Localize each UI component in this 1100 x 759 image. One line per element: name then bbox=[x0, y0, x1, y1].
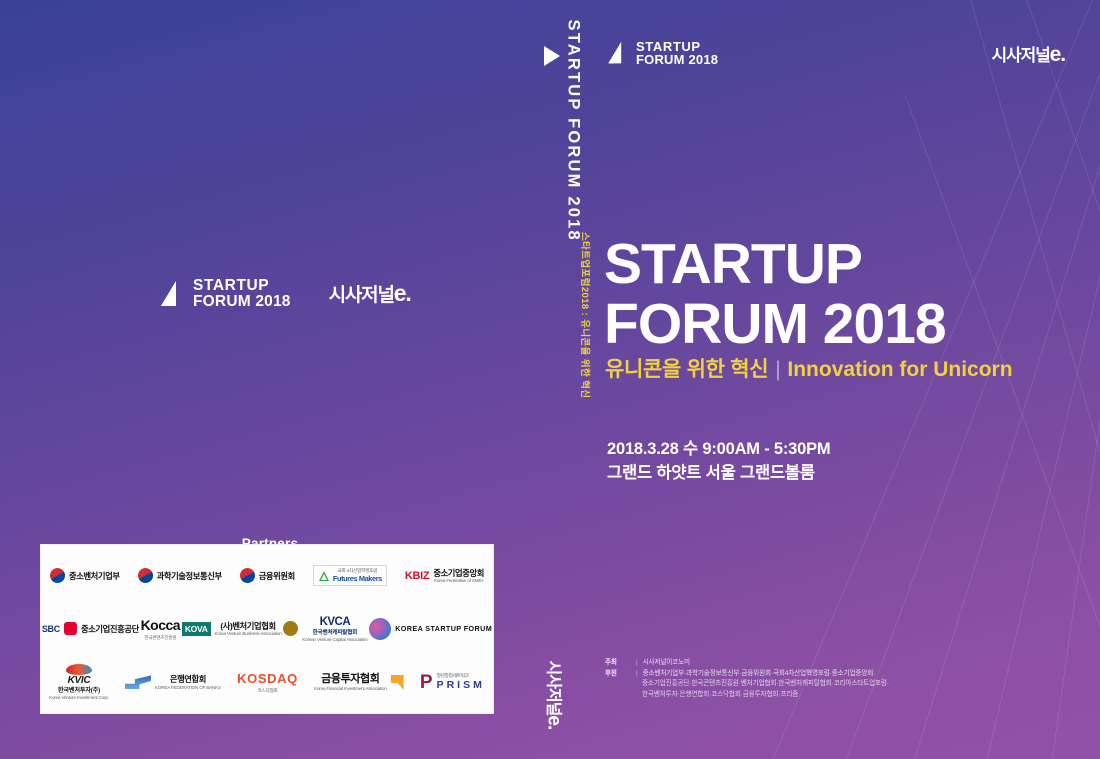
front-publisher-suffix: e. bbox=[1050, 43, 1065, 66]
partner-label: KOREA STARTUP FORUM bbox=[395, 624, 492, 633]
credits-host-label: 주최 bbox=[605, 658, 631, 669]
triangle-sail-icon bbox=[540, 44, 564, 68]
partner-item: 과학기술정보통신부 bbox=[138, 549, 222, 602]
taeguk-icon bbox=[47, 566, 67, 586]
korea-startup-forum-orb-icon bbox=[369, 618, 391, 640]
partner-sublabel: KVIC bbox=[68, 675, 91, 688]
partner-sublabel: KOREA FEDERATION OF BANKS bbox=[155, 685, 221, 691]
kocca-icon: Kocca bbox=[141, 617, 181, 635]
back-startup-forum-logo: STARTUP FORUM 2018 bbox=[155, 278, 291, 310]
partner-item: KVCA 한국벤처캐피탈협회 Korean Venture Capital As… bbox=[283, 603, 367, 656]
partner-item: KVIC 한국벤처투자(주) Korea Venture Investment … bbox=[49, 656, 109, 709]
partner-label: 중소벤처기업부 bbox=[69, 570, 120, 582]
partner-item: P 청년창업네트워크 PRISM bbox=[420, 656, 485, 709]
kvca-icon: KVCA bbox=[320, 615, 351, 629]
partner-sub2: Korea Venture Investment Corp. bbox=[49, 695, 109, 701]
subtitle: 유니콘을 위한 혁신|Innovation for Unicorn bbox=[605, 353, 1013, 383]
kova-icon: KOVA bbox=[182, 622, 211, 636]
credits-sponsor-row: 후원 | 중소벤처기업부·과학기술정보통신부·금융위원회·국회4차산업혁명포럼·… bbox=[605, 669, 889, 680]
partner-label: 중소기업중앙회 bbox=[433, 568, 484, 578]
event-date: 2018.3.28 수 9:00AM - 5:30PM bbox=[607, 435, 830, 459]
partner-sublabel: Korea Federation of SMEs bbox=[434, 578, 483, 584]
partner-item: 금융위원회 bbox=[240, 549, 295, 602]
spine-subtitle: 스타트업포럼2018 : 유니콘을 위한 혁신 bbox=[579, 232, 593, 462]
spine-publisher-suffix: e. bbox=[544, 715, 565, 729]
front-publisher-text: 시사저널 bbox=[992, 46, 1050, 65]
credits-divider: | bbox=[631, 669, 643, 680]
partner-row: SBC 중소기업진흥공단 Kocca 한국콘텐츠진흥원 KOVA (사)벤처기업… bbox=[41, 603, 493, 656]
taeguk-icon bbox=[135, 566, 155, 586]
partner-label: Futures Makers bbox=[333, 574, 382, 583]
headline-line1: STARTUP bbox=[604, 235, 1024, 295]
triangle-sail-icon bbox=[155, 279, 185, 309]
credits-sponsor-label: 후원 bbox=[605, 669, 631, 680]
page-title: STARTUP FORUM 2018 bbox=[604, 235, 1024, 355]
bank-icon bbox=[125, 675, 151, 689]
partner-item: 중소벤처기업부 bbox=[50, 549, 120, 602]
back-publisher-logo: 시사저널e. bbox=[329, 280, 411, 307]
front-startup-forum-logo: STARTUP FORUM 2018 bbox=[603, 40, 718, 67]
kvca-mark-icon bbox=[283, 621, 298, 636]
partner-label: 금융투자협회 bbox=[321, 673, 379, 687]
spine-publisher-logo: 시사저널e. bbox=[543, 661, 568, 733]
sbc-icon bbox=[64, 622, 77, 635]
brochure-spread: STARTUP FORUM 2018 시사저널e. Partners 중소벤처기… bbox=[0, 0, 1100, 759]
partner-sublabel: Korea Venture Business Association bbox=[215, 631, 282, 637]
kbiz-icon: KBIZ bbox=[405, 570, 429, 582]
partner-item: KOREA STARTUP FORUM bbox=[369, 603, 492, 656]
back-logo-line1: STARTUP bbox=[193, 278, 291, 294]
partner-label: 은행연합회 bbox=[170, 674, 206, 684]
credits-host-value: 시사저널이코노미 bbox=[643, 658, 690, 669]
sbc-label: SBC bbox=[42, 624, 60, 634]
credits-sponsor-line1: 중소벤처기업부·과학기술정보통신부·금융위원회·국회4차산업혁명포럼·중소기업중… bbox=[643, 669, 876, 680]
partner-item: 국회 4차산업혁명포럼 Futures Makers bbox=[313, 565, 387, 586]
credits-block: 주최 | 시사저널이코노미 후원 | 중소벤처기업부·과학기술정보통신부·금융위… bbox=[605, 658, 889, 701]
subtitle-divider: | bbox=[768, 358, 787, 381]
front-publisher-logo: 시사저널e. bbox=[992, 41, 1066, 67]
front-logo-line2: FORUM 2018 bbox=[636, 53, 718, 66]
partner-sublabel: Korea Financial Investment Association bbox=[314, 686, 387, 692]
kosdaq-icon: KOSDAQ bbox=[237, 671, 298, 687]
partner-item: KOSDAQ 코스닥협회 bbox=[237, 656, 298, 709]
partner-label: (사)벤처기업협회 bbox=[220, 621, 275, 631]
partner-item: 금융투자협회 Korea Financial Investment Associ… bbox=[314, 656, 404, 709]
partners-box: 중소벤처기업부 과학기술정보통신부 금융위원회 국회 4차산업혁명포럼 Futu… bbox=[40, 544, 494, 714]
futures-makers-icon bbox=[318, 570, 330, 582]
kvic-icon bbox=[66, 664, 92, 675]
prism-icon: P bbox=[420, 674, 433, 691]
partner-item: KOVA (사)벤처기업협회 Korea Venture Business As… bbox=[182, 603, 282, 656]
partner-label: 한국콘텐츠진흥원 bbox=[144, 635, 176, 641]
partner-row: KVIC 한국벤처투자(주) Korea Venture Investment … bbox=[41, 656, 493, 709]
credits-sponsor-line3: 한국벤처투자·은행연합회·코스닥협회·금융투자협회·프리즘 bbox=[605, 690, 889, 701]
subtitle-en: Innovation for Unicorn bbox=[787, 358, 1012, 381]
partner-item: Kocca 한국콘텐츠진흥원 bbox=[141, 603, 181, 656]
partner-label: 금융위원회 bbox=[259, 570, 295, 582]
back-publisher-text: 시사저널 bbox=[329, 285, 394, 306]
partner-label: 한국벤처캐피탈협회 bbox=[313, 630, 358, 637]
partner-label: PRISM bbox=[437, 679, 485, 692]
partner-item: KBIZ 중소기업중앙회 Korea Federation of SMEs bbox=[405, 549, 484, 602]
partner-label: 중소기업진흥공단 bbox=[81, 623, 139, 635]
partner-sublabel: Korean Venture Capital Association bbox=[302, 637, 367, 643]
spine: STARTUP FORUM 2018 스타트업포럼2018 : 유니콘을 위한 … bbox=[533, 0, 573, 759]
headline-line2: FORUM 2018 bbox=[604, 295, 1024, 355]
event-venue: 그랜드 하얏트 서울 그랜드볼룸 bbox=[607, 459, 815, 483]
credits-sponsor-line2: 중소기업진흥공단·한국콘텐츠진흥원·벤처기업협회·한국벤처캐피탈협회·코리아스타… bbox=[605, 679, 889, 690]
back-cover-logos: STARTUP FORUM 2018 시사저널e. bbox=[155, 278, 411, 310]
back-publisher-suffix: e. bbox=[394, 280, 411, 306]
partner-label: 한국벤처투자(주) bbox=[58, 687, 100, 695]
back-logo-line2: FORUM 2018 bbox=[193, 294, 291, 310]
kofia-icon bbox=[391, 675, 404, 690]
partner-row: 중소벤처기업부 과학기술정보통신부 금융위원회 국회 4차산업혁명포럼 Futu… bbox=[41, 549, 493, 602]
partner-item: 은행연합회 KOREA FEDERATION OF BANKS bbox=[125, 656, 221, 709]
partner-label: 과학기술정보통신부 bbox=[157, 570, 222, 582]
front-logo-line1: STARTUP bbox=[636, 40, 718, 53]
triangle-sail-icon bbox=[603, 40, 629, 66]
partner-item: SBC 중소기업진흥공단 bbox=[42, 603, 139, 656]
credits-host-row: 주최 | 시사저널이코노미 bbox=[605, 658, 889, 669]
spine-publisher-text: 시사저널 bbox=[545, 661, 562, 716]
subtitle-ko: 유니콘을 위한 혁신 bbox=[605, 358, 768, 381]
credits-divider: | bbox=[631, 658, 643, 669]
partner-label: 코스닥협회 bbox=[257, 688, 277, 694]
taeguk-icon bbox=[237, 566, 257, 586]
